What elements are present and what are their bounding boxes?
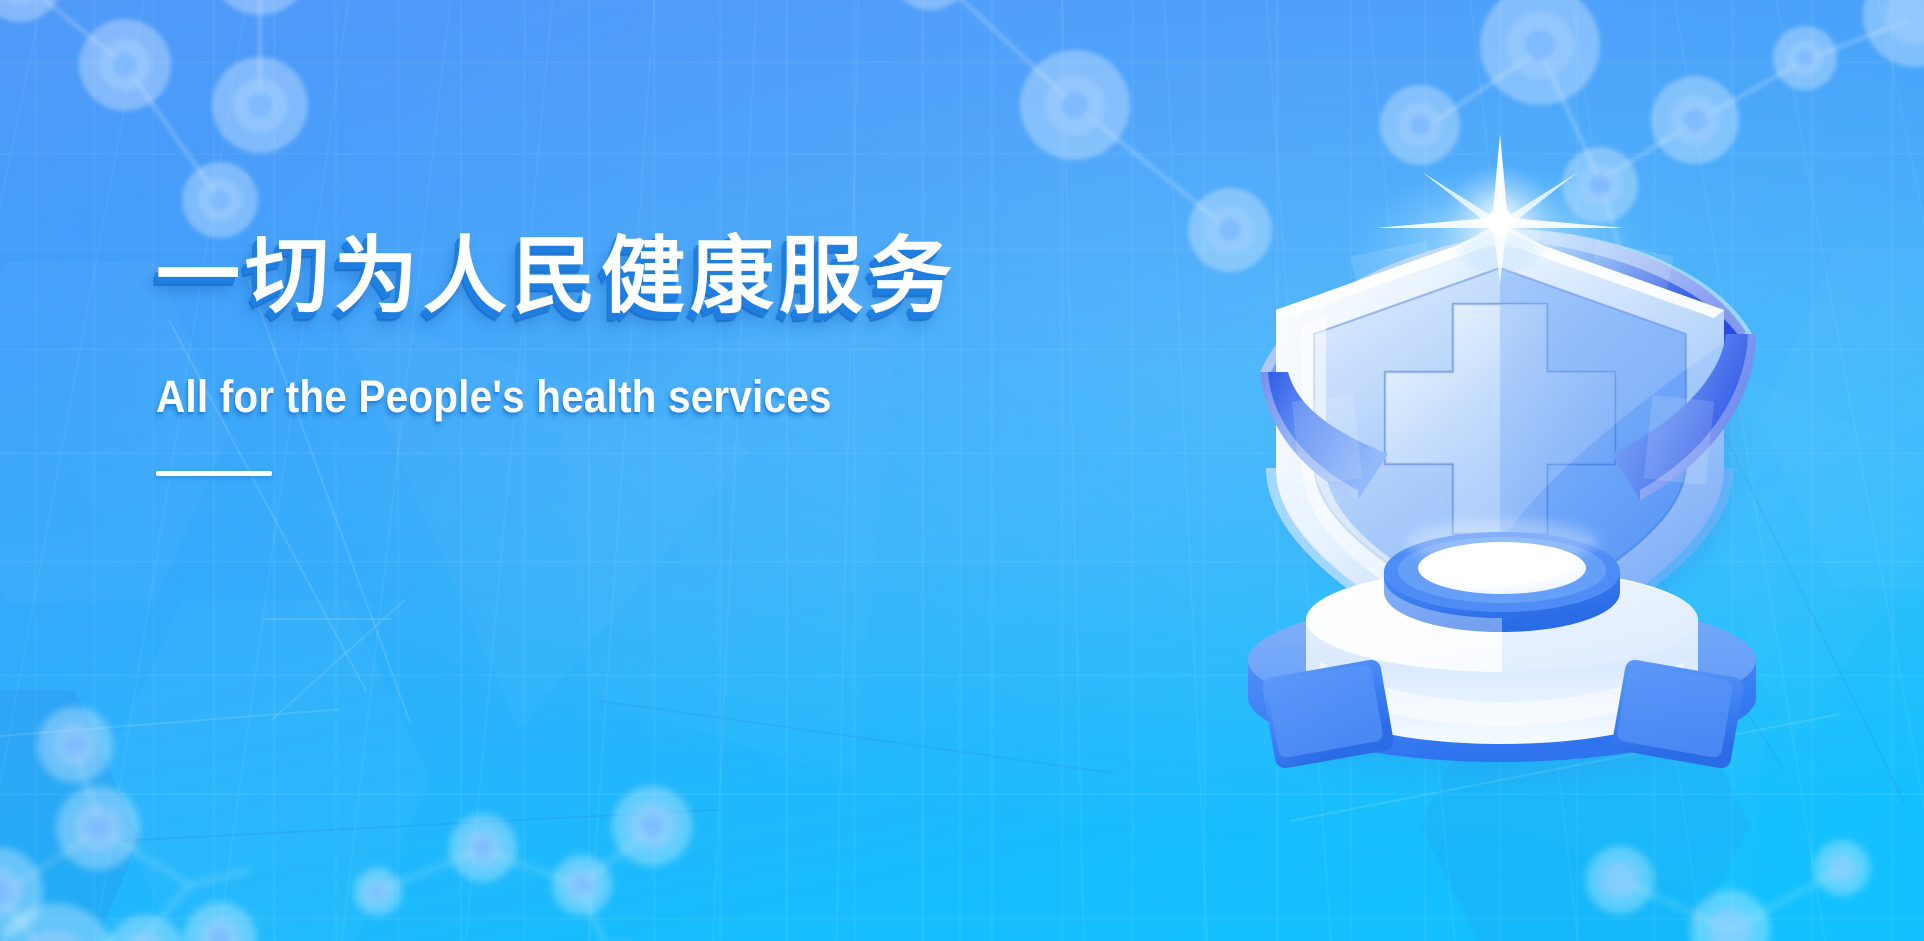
divider-rule	[156, 471, 272, 476]
banner-copy: 一切为人民健康服务 All for the People's health se…	[156, 232, 916, 476]
hexagon-shape	[100, 600, 430, 941]
line-stroke	[270, 600, 405, 722]
line-stroke	[0, 708, 339, 736]
line-stroke	[120, 809, 719, 842]
molecule-pattern-bottom-center	[290, 790, 910, 941]
molecule-pattern-bottom-right	[1580, 820, 1924, 941]
headline-english: All for the People's health services	[156, 320, 840, 422]
molecule-pattern-bottom-left	[0, 700, 640, 941]
hexagon-shape	[0, 690, 140, 941]
health-banner: 一切为人民健康服务 All for the People's health se…	[0, 0, 1924, 941]
medical-shield-artwork	[1120, 72, 1880, 772]
line-stroke	[262, 618, 392, 620]
headline-chinese: 一切为人民健康服务	[156, 232, 916, 320]
line-stroke	[600, 700, 1115, 774]
